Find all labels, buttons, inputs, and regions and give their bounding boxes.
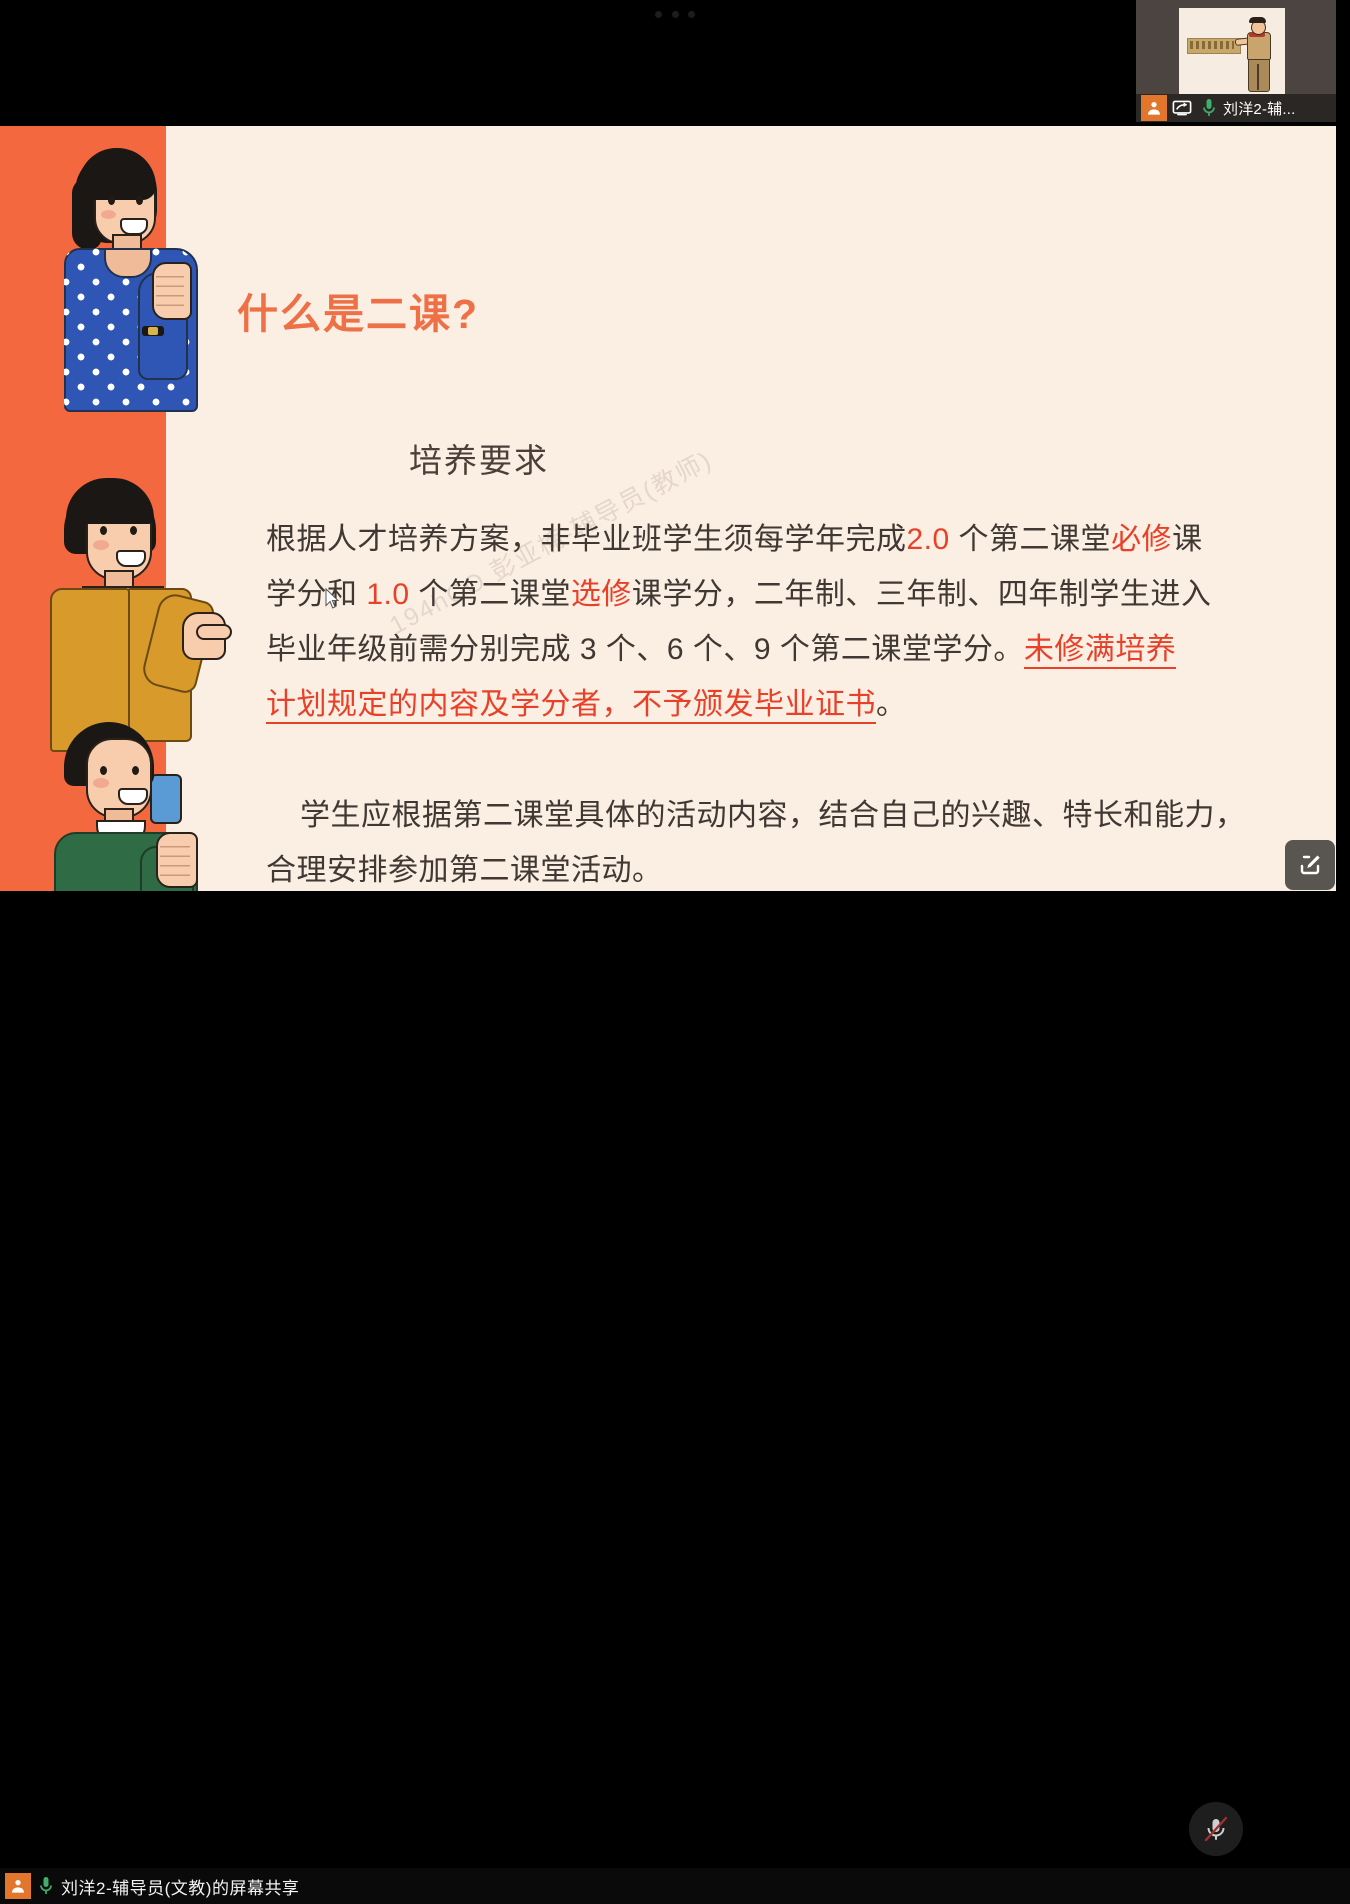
woman-hair-top bbox=[78, 148, 156, 200]
slide-stage: 194hCO 彭亚楠-辅导员(教师) 什么是二课? 培养要求 根据人才培养方案，… bbox=[0, 126, 1336, 891]
top-bar: 刘洋2-辅... bbox=[0, 0, 1350, 126]
man-eye-right bbox=[130, 526, 137, 535]
pencil-annotate-icon bbox=[1296, 851, 1324, 879]
p1l1-a: 根据人才培养方案，非毕业班学生须每学年完成 bbox=[266, 523, 907, 556]
status-bar-participants-button[interactable] bbox=[5, 1873, 31, 1899]
youth-blue-garment bbox=[150, 774, 182, 824]
toolbar-handle-dots-icon[interactable] bbox=[655, 6, 695, 22]
p1l1-credits-2: 2.0 bbox=[907, 523, 950, 556]
bottom-region: 刘洋2-辅导员(文教)的屏幕共享 bbox=[0, 891, 1350, 1013]
paragraph-1-line-3: 毕业年级前需分别完成 3 个、6 个、9 个第二课堂学分。未修满培养 bbox=[266, 622, 1226, 677]
youth-eye-right bbox=[132, 766, 139, 775]
youth-cheek bbox=[93, 778, 109, 788]
paragraph-1-line-1: 根据人才培养方案，非毕业班学生须每学年完成2.0 个第二课堂必修课 bbox=[266, 512, 1226, 567]
p1l2-elective: 选修 bbox=[571, 578, 632, 611]
p1l2-c: 个第二课堂 bbox=[410, 578, 571, 611]
p1l1-c: 个第二课堂 bbox=[950, 523, 1111, 556]
microphone-icon bbox=[1202, 98, 1216, 118]
microphone-muted-icon bbox=[1201, 1814, 1231, 1844]
cartoon-hat bbox=[1249, 17, 1266, 23]
screen-share-icon bbox=[1172, 99, 1192, 117]
person-icon bbox=[10, 1878, 26, 1894]
slide-illustration-figures bbox=[0, 126, 240, 891]
status-bar-share-text: 刘洋2-辅导员(文教)的屏幕共享 bbox=[61, 1874, 299, 1899]
paragraph-2-line-1: 学生应根据第二课堂具体的活动内容，结合自己的兴趣、特长和能力， bbox=[266, 788, 1226, 843]
slide-title: 什么是二课? bbox=[237, 290, 479, 339]
p1l1-e: 课 bbox=[1172, 523, 1203, 556]
p1l2-e: 课学分，二年制、三年制、四年制学生进入 bbox=[632, 578, 1212, 611]
woman-watch-face bbox=[148, 327, 158, 335]
woman-mouth bbox=[120, 218, 148, 235]
self-view-footer: 刘洋2-辅... bbox=[1136, 94, 1336, 122]
youth-eye-left bbox=[100, 766, 107, 775]
man-hair-fringe bbox=[66, 478, 154, 524]
p1l4-period: 。 bbox=[876, 688, 907, 721]
right-gutter bbox=[1336, 126, 1350, 891]
p1l3-a: 毕业年级前需分别完成 3 个、6 个、9 个第二课堂学分。 bbox=[266, 633, 1024, 666]
slide-illustration-band bbox=[0, 126, 166, 891]
annotate-button[interactable] bbox=[1285, 840, 1335, 890]
p1l1-required: 必修 bbox=[1111, 523, 1172, 556]
youth-hand-fingers bbox=[160, 838, 190, 878]
man-cheek bbox=[93, 540, 109, 550]
cartoon-legs bbox=[1248, 57, 1270, 92]
zoom-meeting-window: 刘洋2-辅... bbox=[0, 0, 1350, 1013]
p1l4-warning-end: 计划规定的内容及学分者，不予颁发毕业证书 bbox=[266, 688, 876, 724]
microphone-icon bbox=[39, 1876, 53, 1896]
man-pointing-finger bbox=[196, 624, 232, 640]
paragraph-2-line-2: 合理安排参加第二课堂活动。 bbox=[266, 843, 1226, 891]
self-view-mic-button[interactable] bbox=[1197, 94, 1221, 122]
cartoon-blackboard-text bbox=[1190, 41, 1234, 49]
paragraph-1-line-4: 计划规定的内容及学分者，不予颁发毕业证书。 bbox=[266, 677, 1226, 732]
self-view-participant-name: 刘洋2-辅... bbox=[1223, 98, 1295, 119]
p1l2-a: 学分和 bbox=[266, 578, 366, 611]
slide-subtitle: 培养要求 bbox=[409, 434, 549, 482]
slide-paragraph-1: 根据人才培养方案，非毕业班学生须每学年完成2.0 个第二课堂必修课 学分和 1.… bbox=[266, 512, 1226, 732]
slide-paragraph-2: 学生应根据第二课堂具体的活动内容，结合自己的兴趣、特长和能力， 合理安排参加第二… bbox=[266, 788, 1226, 891]
paragraph-1-line-2: 学分和 1.0 个第二课堂选修课学分，二年制、三年制、四年制学生进入 bbox=[266, 567, 1226, 622]
status-bar: 刘洋2-辅导员(文教)的屏幕共享 bbox=[0, 1868, 1350, 1904]
p1l2-credits-1: 1.0 bbox=[366, 578, 409, 611]
woman-eye-left bbox=[108, 196, 115, 205]
woman-eye-right bbox=[136, 196, 143, 205]
mic-mute-toggle-button[interactable] bbox=[1189, 1802, 1243, 1856]
self-view-thumbnail[interactable]: 刘洋2-辅... bbox=[1136, 0, 1336, 122]
screen-share-button[interactable] bbox=[1167, 94, 1197, 122]
man-eye-left bbox=[100, 526, 107, 535]
shared-screen-slide: 194hCO 彭亚楠-辅导员(教师) 什么是二课? 培养要求 根据人才培养方案，… bbox=[0, 126, 1336, 891]
person-icon bbox=[1146, 100, 1162, 116]
woman-hand-fingers bbox=[156, 268, 184, 310]
youth-mouth bbox=[118, 788, 148, 805]
p1l3-warning-start: 未修满培养 bbox=[1024, 633, 1177, 669]
status-bar-mic-button[interactable] bbox=[31, 1868, 61, 1904]
woman-cheek bbox=[101, 210, 116, 219]
cartoon-leg-split bbox=[1257, 64, 1259, 90]
participants-button[interactable] bbox=[1141, 95, 1167, 121]
self-view-video bbox=[1179, 8, 1285, 94]
man-mouth bbox=[116, 550, 146, 567]
